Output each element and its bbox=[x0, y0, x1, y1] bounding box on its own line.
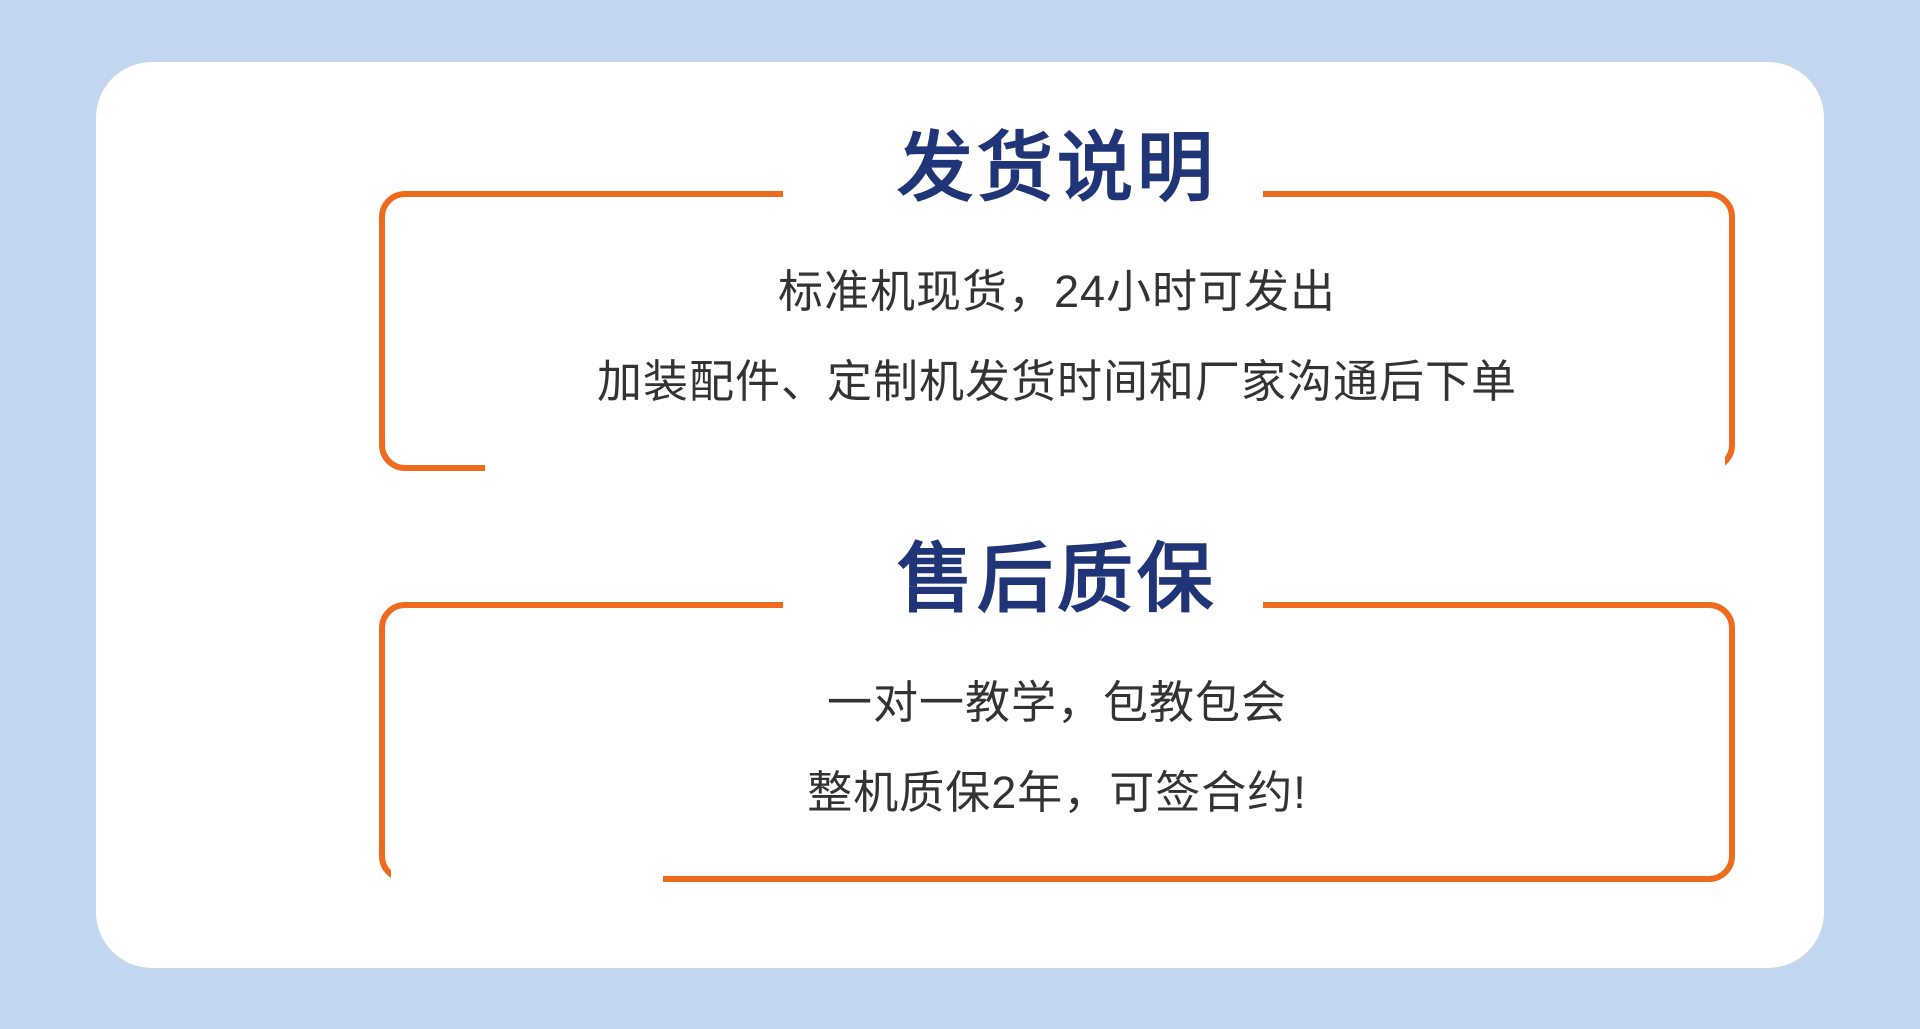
after-sales-warranty-title: 售后质保 bbox=[379, 542, 1735, 618]
content-card: 发货说明 标准机现货，24小时可发出 加装配件、定制机发货时间和厂家沟通后下单 … bbox=[96, 62, 1824, 968]
shipping-info-line-1: 标准机现货，24小时可发出 bbox=[379, 269, 1735, 314]
after-sales-warranty-body: 一对一教学，包教包会 整机质保2年，可签合约! bbox=[379, 680, 1735, 815]
shipping-info-line-2: 加装配件、定制机发货时间和厂家沟通后下单 bbox=[379, 359, 1735, 404]
shipping-info-title: 发货说明 bbox=[379, 131, 1735, 207]
frame-bottom-gap bbox=[485, 457, 1725, 483]
after-sales-warranty-panel: 售后质保 一对一教学，包教包会 整机质保2年，可签合约! bbox=[379, 602, 1735, 882]
frame-bottom-gap bbox=[391, 868, 663, 894]
after-sales-warranty-line-1: 一对一教学，包教包会 bbox=[379, 680, 1735, 725]
shipping-info-body: 标准机现货，24小时可发出 加装配件、定制机发货时间和厂家沟通后下单 bbox=[379, 269, 1735, 404]
after-sales-warranty-line-2: 整机质保2年，可签合约! bbox=[379, 770, 1735, 815]
promo-banner: 发货说明 标准机现货，24小时可发出 加装配件、定制机发货时间和厂家沟通后下单 … bbox=[0, 0, 1920, 1029]
shipping-info-panel: 发货说明 标准机现货，24小时可发出 加装配件、定制机发货时间和厂家沟通后下单 bbox=[379, 191, 1735, 471]
